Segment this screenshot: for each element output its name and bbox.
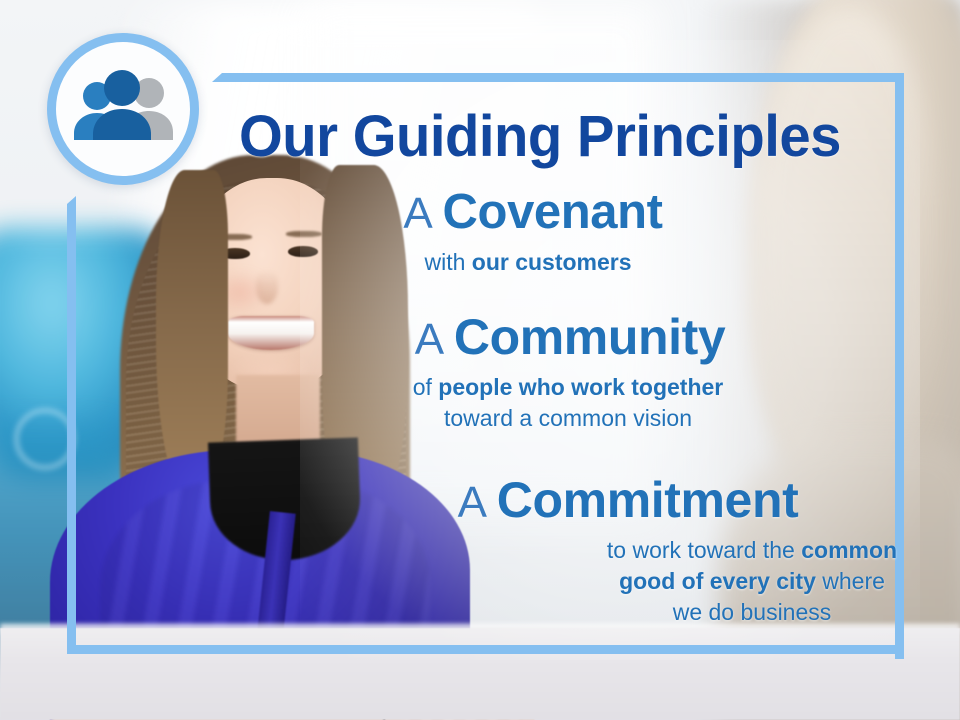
principle-subtext: of people who work togethertoward a comm…: [208, 372, 928, 434]
subtext-plain: to work toward the: [607, 537, 801, 563]
page-title: Our Guiding Principles: [191, 108, 889, 166]
subtext-emphasis: people who work together: [438, 374, 723, 400]
principle-subtext: to work toward the commongood of every c…: [512, 535, 960, 627]
subtext-plain: with: [424, 249, 471, 275]
subtext-plain: where: [816, 568, 885, 594]
principles-content: Our Guiding Principles A Covenant with o…: [180, 60, 900, 650]
principle-article: A: [403, 189, 442, 238]
principle-heading: A Commitment: [268, 475, 960, 526]
principle-community: A Community of people who work togethert…: [180, 312, 900, 434]
principle-subtext: with our customers: [168, 247, 888, 278]
principle-article: A: [415, 315, 454, 364]
people-group-icon: [67, 67, 179, 151]
poster-canvas: FLOW FLOW: [0, 0, 960, 720]
principle-article: A: [458, 478, 497, 527]
subtext-emphasis: common: [801, 537, 897, 563]
principle-keyword: Commitment: [497, 472, 799, 528]
subtext-emphasis: good of every city: [619, 568, 816, 594]
principle-keyword: Community: [454, 309, 725, 365]
subtext-plain: of: [413, 374, 439, 400]
principle-covenant: A Covenant with our customers: [180, 188, 900, 278]
people-group-badge: [47, 33, 199, 185]
principle-heading: A Covenant: [173, 188, 893, 238]
subtext-plain: we do business: [673, 599, 832, 625]
subtext-emphasis: our customers: [472, 249, 632, 275]
principle-heading: A Community: [210, 312, 930, 363]
principle-commitment: A Commitment to work toward the commongo…: [180, 475, 900, 627]
subtext-plain: toward a common vision: [444, 405, 692, 431]
principle-keyword: Covenant: [443, 185, 663, 239]
